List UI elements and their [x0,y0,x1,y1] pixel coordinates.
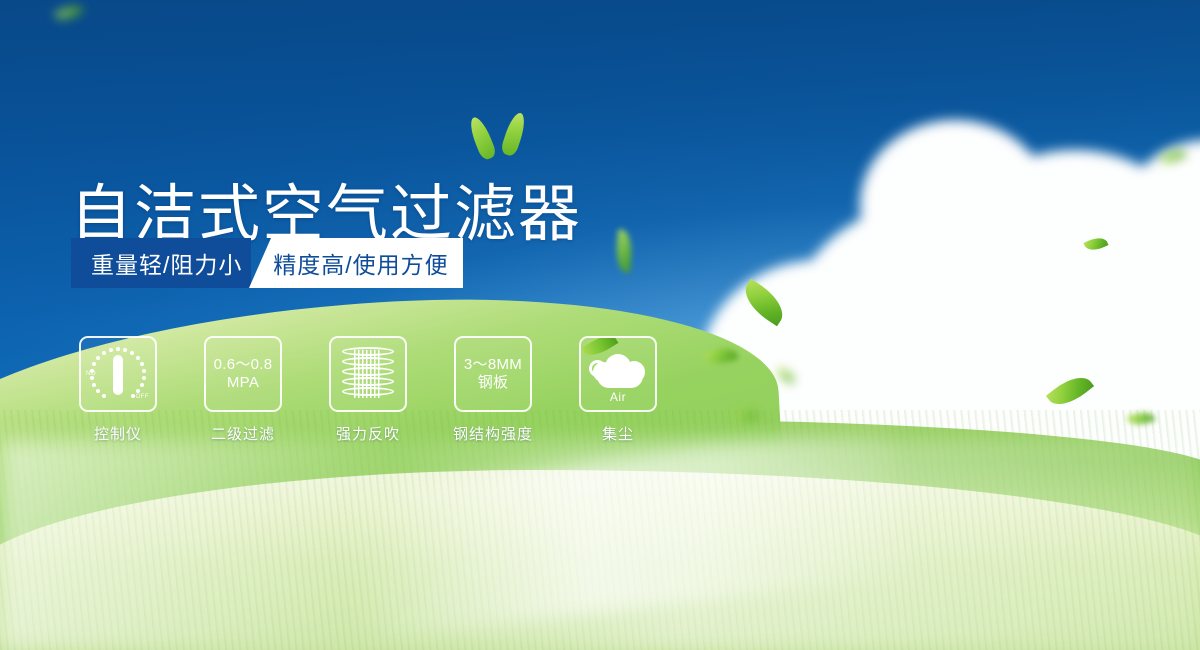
feature-item-steel[interactable]: 3～8MM 钢板 钢结构强度 [454,336,532,444]
feature-item-dust[interactable]: Air 集尘 [579,336,657,444]
feature-label: 强力反吹 [336,423,400,444]
steel-value-line1: 3～8MM [464,356,522,374]
subtitle-right-text: 精度高/使用方便 [263,246,448,280]
grass-foreground [0,470,1200,650]
feature-item-pressure[interactable]: 0.6～0.8 MPA 二级过滤 [204,336,282,444]
feature-icon-box: Air [579,336,657,412]
feature-label: 二级过滤 [211,423,275,444]
feature-label: 集尘 [602,423,634,444]
feature-list: NO OFF 控制仪 0.6～0.8 MPA 二级过滤 [79,336,657,444]
subtitle-left-text: 重量轻/阻力小 [91,246,242,280]
title-leaf-pair-icon [470,108,540,160]
pressure-value-line2: MPA [227,374,259,392]
sun-ring-icon [589,360,606,377]
steel-value-line2: 钢板 [478,374,509,392]
subtitle-left-segment: 重量轻/阻力小 [71,238,251,288]
air-cloud-icon: Air [587,348,649,400]
filter-cartridge-icon [342,347,394,401]
feature-label: 钢结构强度 [453,423,533,444]
product-banner: 自洁式空气过滤器 重量轻/阻力小 精度高/使用方便 [0,0,1200,650]
page-title: 自洁式空气过滤器 [70,184,582,246]
feature-item-controller[interactable]: NO OFF 控制仪 [79,336,157,444]
feature-item-backblow[interactable]: 强力反吹 [329,336,407,444]
dial-label-no: NO [86,371,96,377]
dial-pointer [113,355,123,395]
dial-label-off: OFF [136,394,150,400]
feature-icon-box [329,336,407,412]
feature-icon-box: 3～8MM 钢板 [454,336,532,412]
subtitle-bar: 重量轻/阻力小 精度高/使用方便 [71,238,463,288]
dial-gauge-icon: NO OFF [87,345,149,403]
subtitle-right-segment: 精度高/使用方便 [249,238,463,288]
pressure-value-line1: 0.6～0.8 [214,356,273,374]
air-label: Air [587,390,649,404]
feature-label: 控制仪 [94,423,142,444]
feature-icon-box: NO OFF [79,336,157,412]
feature-icon-box: 0.6～0.8 MPA [204,336,282,412]
